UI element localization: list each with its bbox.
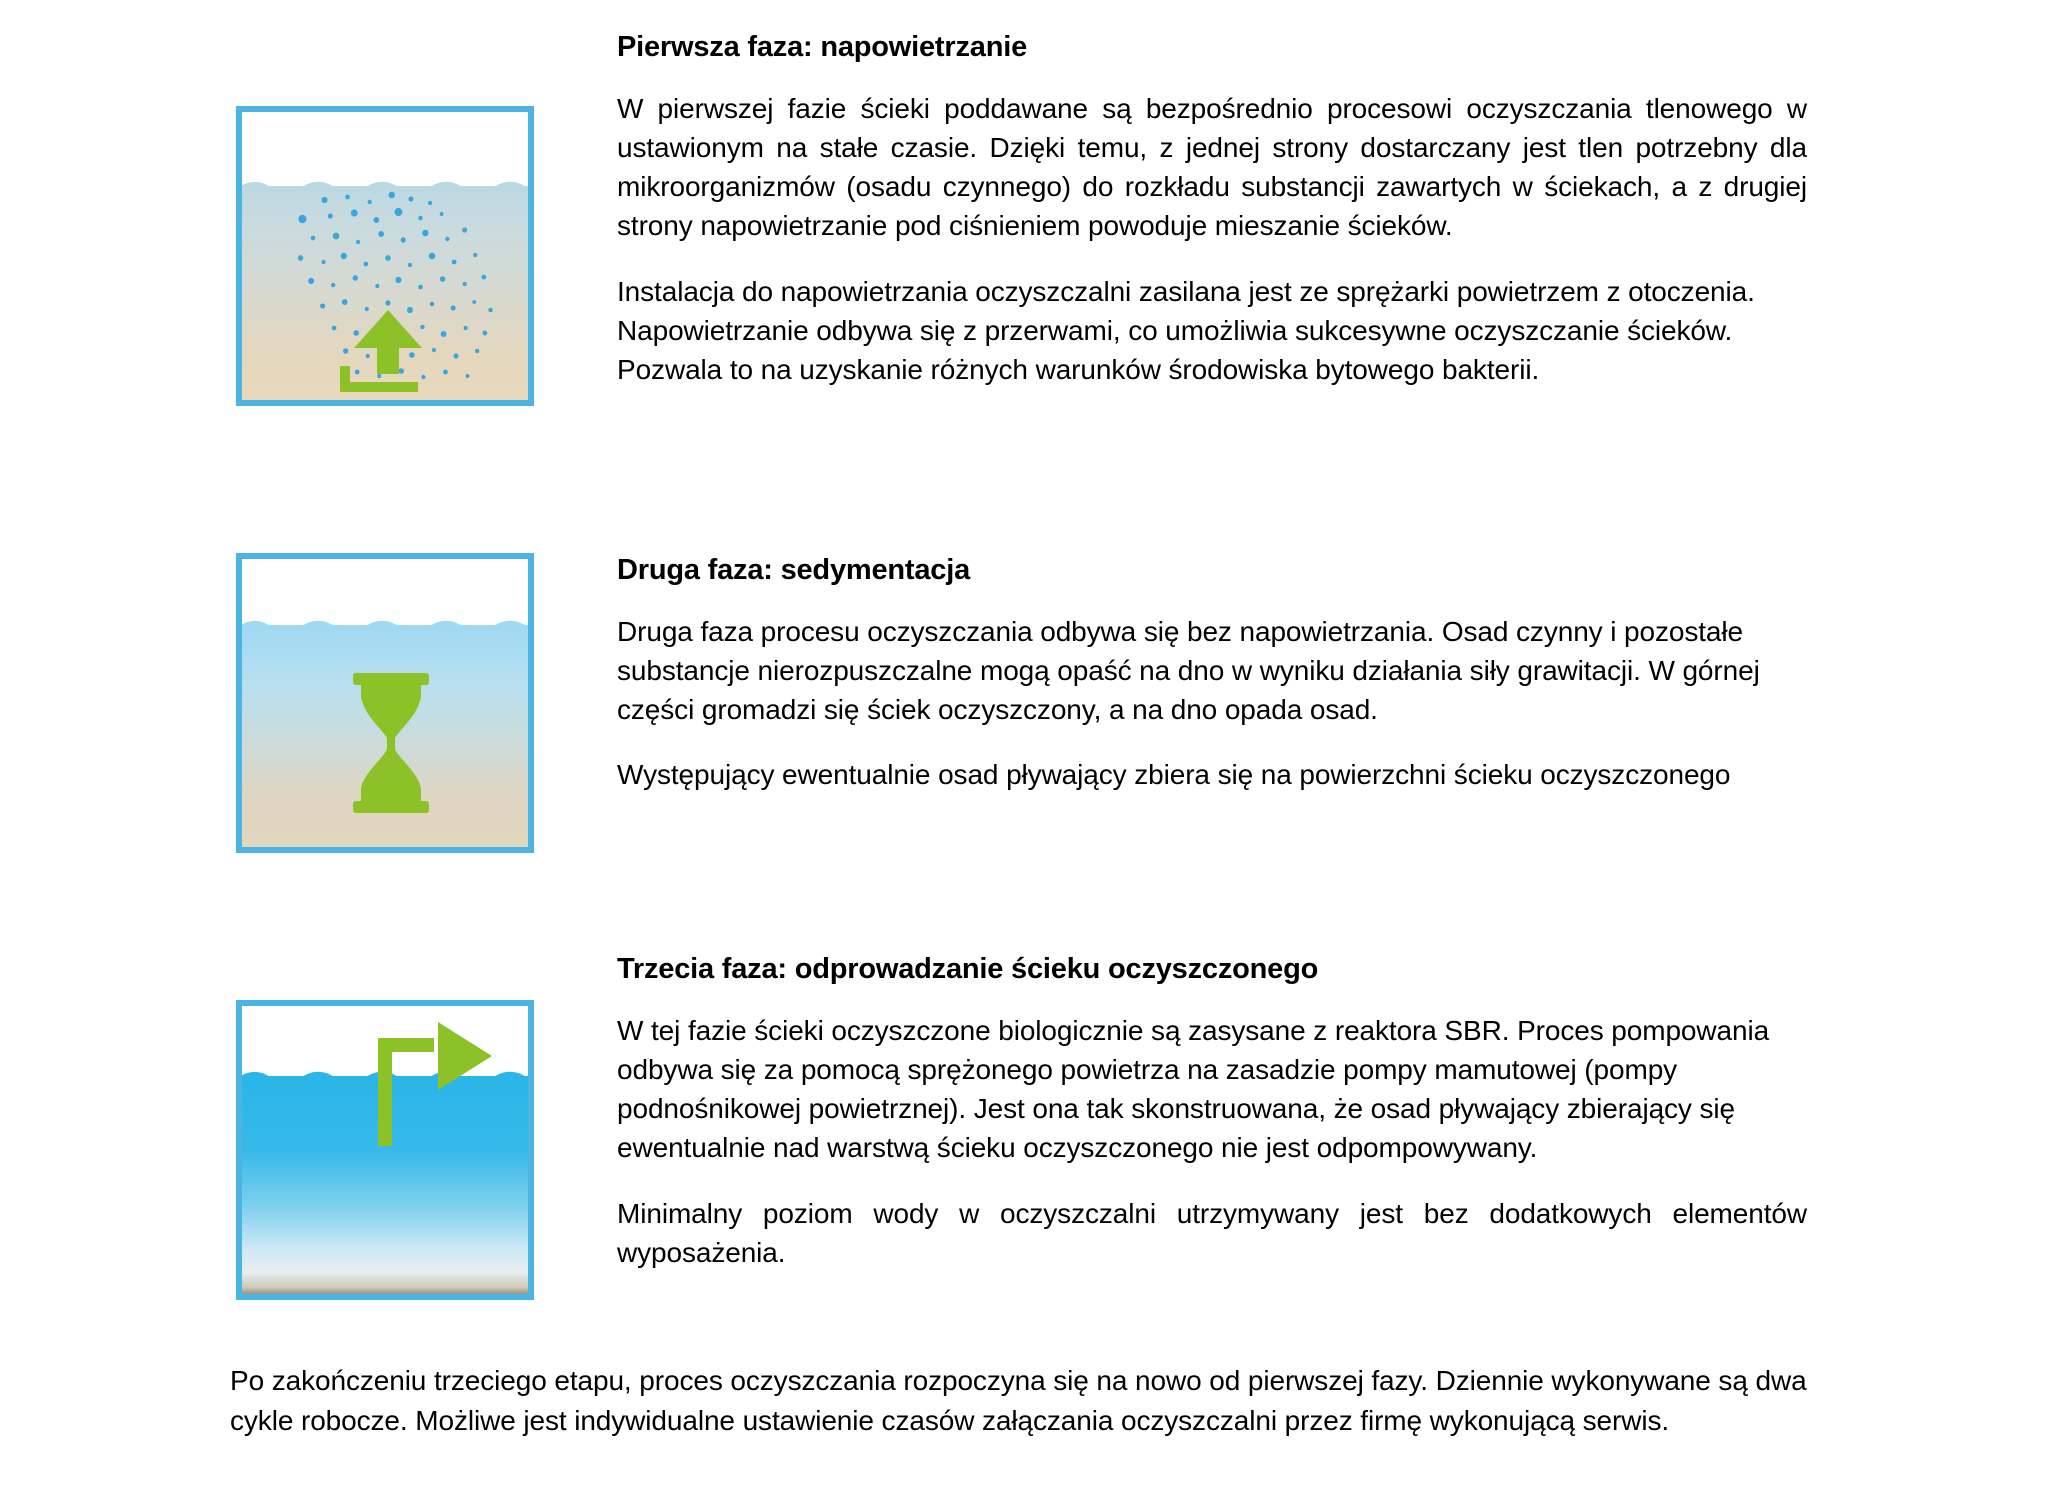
aerator-up-arrow-icon: [330, 304, 450, 394]
tank-discharge-icon: [236, 1000, 536, 1300]
phase-paragraph-2-2: Występujący ewentualnie osad pływający z…: [617, 755, 1807, 794]
tank-sedimentation-icon: [236, 553, 536, 853]
phase-paragraph-2-1: Druga faza procesu oczyszczania odbywa s…: [617, 612, 1807, 730]
phase-paragraph-1-2: Instalacja do napowietrzania oczyszczaln…: [617, 272, 1807, 390]
phase-paragraph-3-2: Minimalny poziom wody w oczyszczalni utr…: [617, 1194, 1807, 1272]
footer-note: Po zakończeniu trzeciego etapu, proces o…: [230, 1361, 1810, 1441]
phase-paragraph-3-1: W tej fazie ścieki oczyszczone biologicz…: [617, 1011, 1807, 1168]
tank-body: [236, 553, 534, 853]
phase-heading-2: Druga faza: sedymentacja: [617, 553, 1807, 588]
phase-text-2: Druga faza: sedymentacja Druga faza proc…: [617, 553, 1807, 795]
phase-heading-3: Trzecia faza: odprowadzanie ścieku oczys…: [617, 952, 1807, 987]
water-layer: [242, 186, 528, 400]
water-surface-wave-icon: [238, 616, 534, 630]
hourglass-icon: [341, 673, 441, 813]
discharge-pipe-arrow-icon: [342, 1016, 502, 1156]
phase-text-1: Pierwsza faza: napowietrzanie W pierwsze…: [617, 30, 1807, 389]
tank-aeration-icon: [236, 106, 536, 406]
water-layer: [242, 625, 528, 847]
phase-text-3: Trzecia faza: odprowadzanie ścieku oczys…: [617, 952, 1807, 1272]
sbr-process-page: Pierwsza faza: napowietrzanie W pierwsze…: [0, 0, 2048, 1487]
tank-body: [236, 1000, 534, 1300]
phase-paragraph-1-1: W pierwszej fazie ścieki poddawane są be…: [617, 89, 1807, 246]
phase-heading-1: Pierwsza faza: napowietrzanie: [617, 30, 1807, 65]
tank-body: [236, 106, 534, 406]
